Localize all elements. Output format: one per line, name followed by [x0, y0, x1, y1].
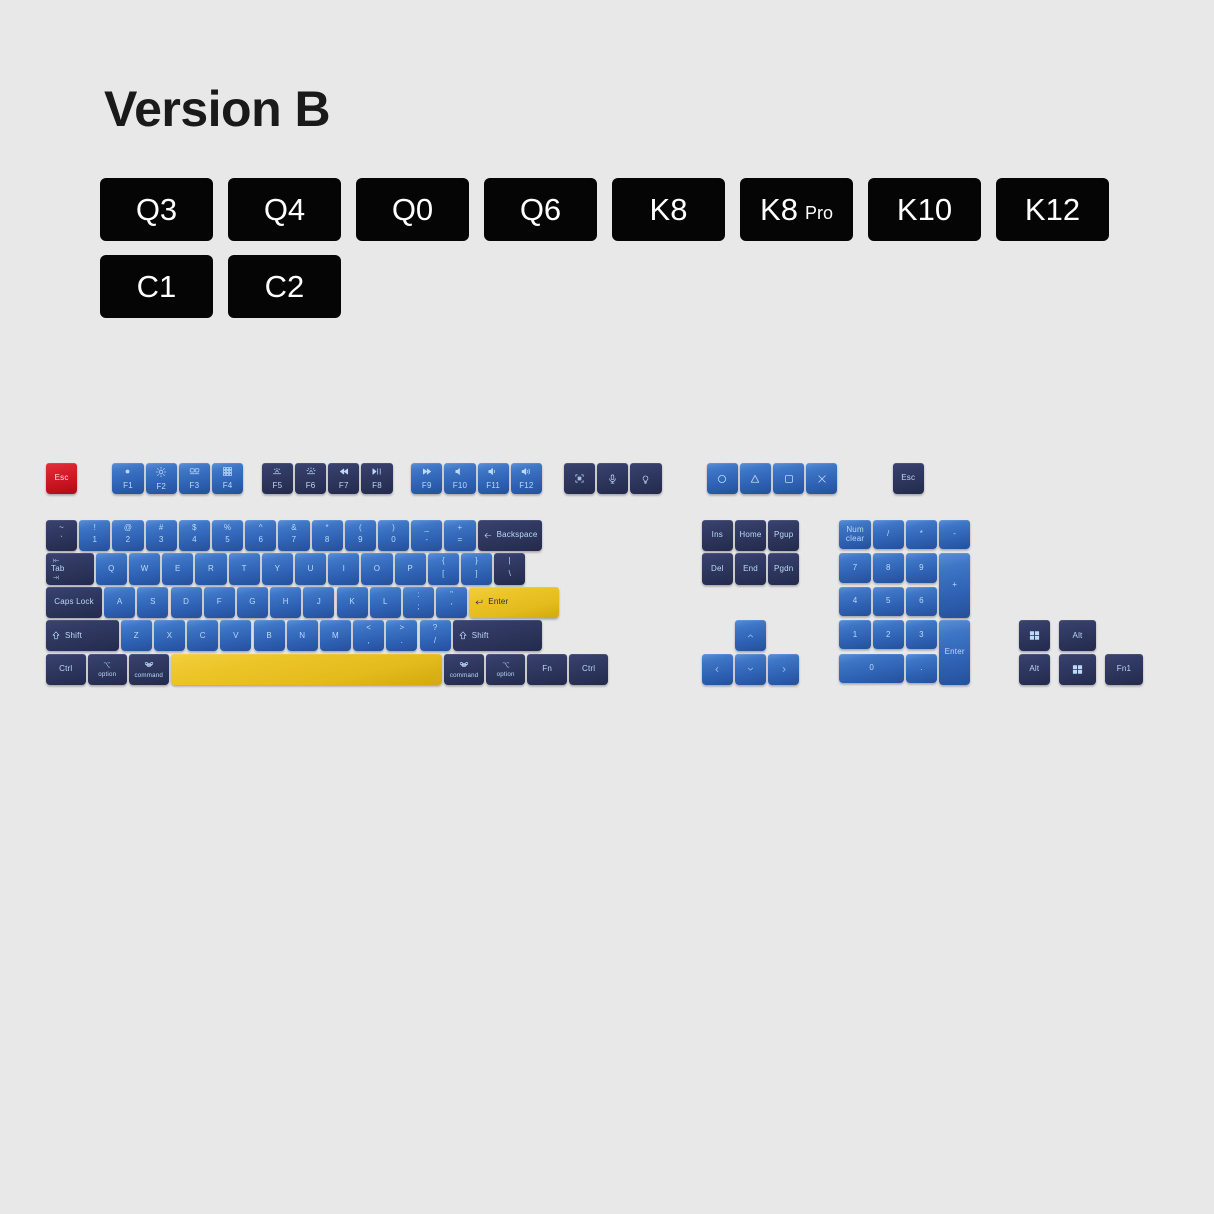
- key-num-period[interactable]: .: [906, 654, 937, 683]
- key-o[interactable]: O: [361, 553, 392, 584]
- keycap-legend-lower: -: [425, 536, 428, 544]
- key-s[interactable]: S: [137, 587, 168, 618]
- windows-icon: [1029, 630, 1040, 641]
- keycap-legend: D: [183, 598, 189, 606]
- keycap-legend: F4: [223, 482, 233, 490]
- triangle-icon: [749, 473, 761, 485]
- keycap-face: -: [939, 520, 970, 549]
- key-quote[interactable]: "': [436, 587, 467, 618]
- key-a[interactable]: A: [104, 587, 135, 618]
- model-chip-label: C2: [265, 271, 305, 302]
- key-n[interactable]: N: [287, 620, 318, 651]
- key-k[interactable]: K: [337, 587, 368, 618]
- keycap-legend: S: [150, 598, 156, 606]
- keycap-face: 2: [873, 620, 904, 649]
- keycap-legend-lower: 2: [126, 536, 131, 544]
- keycap-legend: Del: [711, 565, 724, 573]
- keycap-face: O: [361, 553, 392, 584]
- keycap-face: [702, 654, 733, 685]
- keycap-legend-lower: [: [442, 570, 444, 578]
- keycap-legend-upper: &: [291, 524, 297, 532]
- key-3[interactable]: #3: [146, 520, 177, 551]
- keycap-legend: command: [450, 672, 479, 679]
- key-pgdn[interactable]: Pgdn: [768, 553, 799, 584]
- key-option-right[interactable]: option: [486, 654, 526, 685]
- keycap-face: Caps Lock: [46, 587, 102, 618]
- keycap-face: >.: [386, 620, 417, 651]
- model-chip-k8-pro[interactable]: K8Pro: [740, 178, 853, 241]
- keycap-face: [735, 620, 766, 651]
- model-chip-k12[interactable]: K12: [996, 178, 1109, 241]
- keycap-face: )0: [378, 520, 409, 551]
- keycap-legend-lower: 6: [258, 536, 263, 544]
- keycap-face: [1019, 620, 1050, 651]
- keycap-face: F5: [262, 463, 293, 494]
- keycap-legend: U: [308, 565, 314, 573]
- key-num-6[interactable]: 6: [906, 587, 937, 616]
- keycap-legend: Shift: [65, 632, 82, 640]
- keycap-face: F: [204, 587, 235, 618]
- keycap-face: ^6: [245, 520, 276, 551]
- key-tilde[interactable]: ~`: [46, 520, 77, 551]
- key-alt-bottom[interactable]: Alt: [1019, 654, 1050, 685]
- keycap-face: F9: [411, 463, 442, 494]
- keycap-legend: W: [141, 565, 149, 573]
- keycap-legend-lower: 5: [225, 536, 230, 544]
- keycap-face: Z: [121, 620, 152, 651]
- keycap-legend: F3: [190, 482, 200, 490]
- keycap-face: Alt: [1059, 620, 1097, 651]
- keycap-face: D: [171, 587, 202, 618]
- key-u[interactable]: U: [295, 553, 326, 584]
- square-icon: [783, 473, 795, 485]
- keycap-legend: O: [374, 565, 380, 573]
- key-ctrl-right[interactable]: Ctrl: [569, 654, 609, 685]
- model-chip-q4[interactable]: Q4: [228, 178, 341, 241]
- key-tab[interactable]: Tab: [46, 553, 94, 584]
- keycap-face: N: [287, 620, 318, 651]
- key-0[interactable]: )0: [378, 520, 409, 551]
- key-j[interactable]: J: [303, 587, 334, 618]
- key-arrow-down[interactable]: [735, 654, 766, 685]
- key-num-multiply[interactable]: *: [906, 520, 937, 549]
- keycap-face: C: [187, 620, 218, 651]
- key-command-left[interactable]: command: [129, 654, 169, 685]
- key-num-minus[interactable]: -: [939, 520, 970, 549]
- model-chip-label: K8: [760, 194, 798, 225]
- keycap-face: /: [873, 520, 904, 549]
- model-chip-label: Q0: [392, 194, 433, 225]
- key-square[interactable]: [773, 463, 804, 494]
- key-esc[interactable]: Esc: [46, 463, 77, 494]
- key-i[interactable]: I: [328, 553, 359, 584]
- key-g[interactable]: G: [237, 587, 268, 618]
- key-num-plus[interactable]: +: [939, 553, 970, 618]
- keycap-legend: F8: [372, 482, 382, 490]
- key-y[interactable]: Y: [262, 553, 293, 584]
- key-win-bottom[interactable]: [1059, 654, 1097, 685]
- keycap-face: R: [195, 553, 226, 584]
- keycap-legend-upper: !: [94, 524, 96, 532]
- key-num-divide[interactable]: /: [873, 520, 904, 549]
- key-f12[interactable]: F12: [511, 463, 542, 494]
- keycap-face: option: [88, 654, 128, 685]
- keycap-legend: 6: [919, 597, 924, 605]
- keycap-legend: F12: [519, 482, 533, 490]
- key-mic[interactable]: [597, 463, 628, 494]
- key-fn1[interactable]: Fn1: [1105, 654, 1143, 685]
- keycap-face: [171, 654, 443, 685]
- key-ins[interactable]: Ins: [702, 520, 733, 551]
- keycap-face: command: [444, 654, 484, 685]
- keycap-face: "': [436, 587, 467, 618]
- keycap-legend: Alt: [1073, 632, 1083, 640]
- keycap-face: 3: [906, 620, 937, 649]
- key-backslash[interactable]: |\: [494, 553, 525, 584]
- key-backspace[interactable]: Backspace: [478, 520, 542, 551]
- key-num-enter[interactable]: Enter: [939, 620, 970, 685]
- model-chip-row: Q3Q4Q0Q6K8K8ProK10K12: [100, 178, 1109, 241]
- key-minus[interactable]: _-: [411, 520, 442, 551]
- backlight-down-icon: [271, 466, 283, 477]
- key-pgup[interactable]: Pgup: [768, 520, 799, 551]
- keycap-legend: G: [249, 598, 255, 606]
- keycap-legend-lower: =: [458, 536, 463, 544]
- key-q[interactable]: Q: [96, 553, 127, 584]
- launchpad-grid-icon: [222, 466, 233, 477]
- fast-forward-icon: [421, 466, 433, 477]
- key-8[interactable]: *8: [312, 520, 343, 551]
- key-r[interactable]: R: [195, 553, 226, 584]
- model-chip-k10[interactable]: K10: [868, 178, 981, 241]
- key-shift-right[interactable]: Shift: [453, 620, 542, 651]
- keycap-face: [768, 654, 799, 685]
- key-p[interactable]: P: [395, 553, 426, 584]
- keycap-face: F6: [295, 463, 326, 494]
- keycap-legend: F9: [422, 482, 432, 490]
- keycap-face: Q: [96, 553, 127, 584]
- key-e[interactable]: E: [162, 553, 193, 584]
- key-l[interactable]: L: [370, 587, 401, 618]
- keycap-face: Esc: [893, 463, 924, 494]
- keycap-legend-lower: 7: [292, 536, 297, 544]
- key-bracket-left[interactable]: {[: [428, 553, 459, 584]
- key-6[interactable]: ^6: [245, 520, 276, 551]
- key-slash[interactable]: ?/: [420, 620, 451, 651]
- keycap-legend: Esc: [55, 474, 69, 482]
- keycap-legend-row: Shift: [458, 630, 489, 641]
- keycap-legend: 3: [919, 631, 924, 639]
- key-m[interactable]: M: [320, 620, 351, 651]
- keycap-legend-upper: {: [442, 557, 445, 565]
- keycap-legend: F2: [156, 483, 166, 491]
- key-2[interactable]: @2: [112, 520, 143, 551]
- keycap-legend: Home: [739, 531, 761, 539]
- mission-control-icon: [188, 466, 201, 477]
- keycap-legend-lower: /: [434, 637, 436, 645]
- key-num-1[interactable]: 1: [839, 620, 870, 649]
- key-1[interactable]: !1: [79, 520, 110, 551]
- keycap-face: A: [104, 587, 135, 618]
- keycap-face: H: [270, 587, 301, 618]
- keycap-face: F3: [179, 463, 210, 494]
- brightness-dot-icon: [122, 466, 133, 477]
- keycap-face: K: [337, 587, 368, 618]
- key-f2[interactable]: F2: [146, 463, 177, 494]
- keycap-legend-upper: <: [366, 624, 371, 632]
- keycap-legend: End: [743, 565, 758, 573]
- keycap-face: F11: [478, 463, 509, 494]
- key-alt-top[interactable]: Alt: [1059, 620, 1097, 651]
- backlight-up-icon: [305, 466, 317, 477]
- key-f8[interactable]: F8: [361, 463, 392, 494]
- keycap-legend: option: [98, 671, 116, 678]
- keycap-legend-upper: (: [359, 524, 362, 532]
- keycap-legend: *: [920, 530, 923, 538]
- key-circle[interactable]: [707, 463, 738, 494]
- keycap-legend: +: [952, 581, 957, 589]
- keycap-legend-row: Enter: [474, 598, 508, 607]
- key-h[interactable]: H: [270, 587, 301, 618]
- key-num-9[interactable]: 9: [906, 553, 937, 582]
- keycap-legend: L: [383, 598, 388, 606]
- key-end[interactable]: End: [735, 553, 766, 584]
- keycap-face: Shift: [453, 620, 542, 651]
- page-title: Version B: [104, 84, 330, 134]
- key-x[interactable]: X: [154, 620, 185, 651]
- key-5[interactable]: %5: [212, 520, 243, 551]
- key-f10[interactable]: F10: [444, 463, 475, 494]
- keycap-face: F12: [511, 463, 542, 494]
- key-z[interactable]: Z: [121, 620, 152, 651]
- keycap-face: Shift: [46, 620, 119, 651]
- keycap-face: *: [906, 520, 937, 549]
- key-cross[interactable]: [806, 463, 837, 494]
- key-num-3[interactable]: 3: [906, 620, 937, 649]
- keycap-face: 5: [873, 587, 904, 616]
- keycap-legend: 1: [853, 631, 858, 639]
- keycap-legend-upper: +: [458, 524, 463, 532]
- keycap-legend: Q: [108, 565, 114, 573]
- model-chip-q6[interactable]: Q6: [484, 178, 597, 241]
- key-period[interactable]: >.: [386, 620, 417, 651]
- keycap-face: ~`: [46, 520, 77, 551]
- model-chip-row: C1C2: [100, 255, 1109, 318]
- keycap-face: T: [229, 553, 260, 584]
- key-equal[interactable]: +=: [444, 520, 475, 551]
- key-f7[interactable]: F7: [328, 463, 359, 494]
- keycap-legend: Y: [275, 565, 281, 573]
- keycap-legend: Enter: [488, 598, 508, 606]
- keycap-face: [630, 463, 661, 494]
- keycap-legend: F: [217, 598, 222, 606]
- screenshot-icon: [574, 473, 585, 484]
- keycap-legend: option: [497, 671, 515, 678]
- keycap-legend: F1: [123, 482, 133, 490]
- key-d[interactable]: D: [171, 587, 202, 618]
- key-bracket-right[interactable]: }]: [461, 553, 492, 584]
- keycap-face: Pgdn: [768, 553, 799, 584]
- option-symbol-icon: [501, 661, 511, 669]
- key-f3[interactable]: F3: [179, 463, 210, 494]
- keycap-legend: Pgup: [774, 531, 793, 539]
- key-num-7[interactable]: 7: [839, 553, 870, 582]
- keycap-face: *8: [312, 520, 343, 551]
- keycap-face: (9: [345, 520, 376, 551]
- windows-icon: [1072, 664, 1083, 675]
- keycap-legend-lower: ': [451, 603, 453, 611]
- key-win-top[interactable]: [1019, 620, 1050, 651]
- key-4[interactable]: $4: [179, 520, 210, 551]
- enter-arrow-icon: [474, 598, 484, 607]
- keycap-legend: T: [242, 565, 247, 573]
- key-f9[interactable]: F9: [411, 463, 442, 494]
- key-num-8[interactable]: 8: [873, 553, 904, 582]
- model-chip-c1[interactable]: C1: [100, 255, 213, 318]
- keycap-legend-lower: 8: [325, 536, 330, 544]
- keycap-legend: Fn1: [1117, 665, 1131, 673]
- key-7[interactable]: &7: [278, 520, 309, 551]
- keycap-legend: M: [332, 632, 339, 640]
- keycap-legend: V: [233, 632, 239, 640]
- key-f[interactable]: F: [204, 587, 235, 618]
- keycap-legend-upper: }: [475, 557, 478, 565]
- key-fn[interactable]: Fn: [527, 654, 567, 685]
- key-enter[interactable]: Enter: [469, 587, 558, 618]
- keycap-face: L: [370, 587, 401, 618]
- key-num-5[interactable]: 5: [873, 587, 904, 616]
- key-w[interactable]: W: [129, 553, 160, 584]
- keycap-face: F10: [444, 463, 475, 494]
- key-semicolon[interactable]: :;: [403, 587, 434, 618]
- keycap-face: &7: [278, 520, 309, 551]
- circle-icon: [716, 473, 728, 485]
- keycap-face: Del: [702, 553, 733, 584]
- keycap-legend-upper: *: [326, 524, 329, 532]
- key-f5[interactable]: F5: [262, 463, 293, 494]
- keycap-legend: /: [887, 530, 889, 538]
- key-esc-alt[interactable]: Esc: [893, 463, 924, 494]
- model-chip-label: K8: [650, 194, 688, 225]
- key-b[interactable]: B: [254, 620, 285, 651]
- shift-arrow-icon: [458, 630, 468, 641]
- keycap-legend: H: [283, 598, 289, 606]
- keycap-legend: 5: [886, 597, 891, 605]
- keycap-face: Ctrl: [46, 654, 86, 685]
- key-9[interactable]: (9: [345, 520, 376, 551]
- model-chip-label: K10: [897, 194, 952, 225]
- keycap-face: 0: [839, 654, 903, 683]
- keycap-face: #3: [146, 520, 177, 551]
- key-num-clear[interactable]: Numclear: [839, 520, 870, 549]
- keycap-face: F8: [361, 463, 392, 494]
- key-num-4[interactable]: 4: [839, 587, 870, 616]
- chevron-up-icon: [745, 632, 756, 640]
- key-f4[interactable]: F4: [212, 463, 243, 494]
- key-arrow-left[interactable]: [702, 654, 733, 685]
- model-chip-q3[interactable]: Q3: [100, 178, 213, 241]
- tab-arrow-right-icon: [51, 574, 61, 581]
- volume-up-icon: [520, 466, 533, 477]
- keycap-legend: B: [266, 632, 272, 640]
- keycap-face: J: [303, 587, 334, 618]
- key-ctrl-left[interactable]: Ctrl: [46, 654, 86, 685]
- key-triangle[interactable]: [740, 463, 771, 494]
- keycap-face: ?/: [420, 620, 451, 651]
- keycap-face: 1: [839, 620, 870, 649]
- model-chip-c2[interactable]: C2: [228, 255, 341, 318]
- key-v[interactable]: V: [220, 620, 251, 651]
- key-lightbulb[interactable]: [630, 463, 661, 494]
- key-f1[interactable]: F1: [112, 463, 143, 494]
- keycap-legend-upper: :: [417, 591, 419, 599]
- keycap-legend: N: [299, 632, 305, 640]
- keycap-legend: A: [117, 598, 123, 606]
- key-command-right[interactable]: command: [444, 654, 484, 685]
- keycap-face: 9: [906, 553, 937, 582]
- key-arrow-up[interactable]: [735, 620, 766, 651]
- key-caps-lock[interactable]: Caps Lock: [46, 587, 102, 618]
- keycap-legend: F6: [306, 482, 316, 490]
- key-t[interactable]: T: [229, 553, 260, 584]
- keycap-face: Pgup: [768, 520, 799, 551]
- model-chip-q0[interactable]: Q0: [356, 178, 469, 241]
- key-screenshot[interactable]: [564, 463, 595, 494]
- keycap-face: {[: [428, 553, 459, 584]
- keycap-face: Numclear: [839, 520, 870, 549]
- play-pause-icon: [371, 466, 383, 477]
- keycap-legend-row: Shift: [51, 630, 82, 641]
- keycap-legend: Esc: [901, 474, 915, 482]
- key-space[interactable]: [171, 654, 443, 685]
- key-arrow-right[interactable]: [768, 654, 799, 685]
- keycap-face: F1: [112, 463, 143, 494]
- keycap-face: $4: [179, 520, 210, 551]
- keycap-face: [597, 463, 628, 494]
- key-del[interactable]: Del: [702, 553, 733, 584]
- keycap-legend: Ctrl: [582, 665, 595, 673]
- key-option-left[interactable]: option: [88, 654, 128, 685]
- keycap-legend-upper: %: [224, 524, 231, 532]
- keycap-legend-lower: 0: [391, 536, 396, 544]
- key-c[interactable]: C: [187, 620, 218, 651]
- key-home[interactable]: Home: [735, 520, 766, 551]
- keycap-legend-lower: ,: [367, 637, 369, 645]
- key-shift-left[interactable]: Shift: [46, 620, 119, 651]
- keycap-face: F4: [212, 463, 243, 494]
- keycap-face: Esc: [46, 463, 77, 494]
- keycap-legend: 9: [919, 564, 924, 572]
- keycap-legend: E: [175, 565, 181, 573]
- keycap-face: Enter: [469, 587, 558, 618]
- key-num-2[interactable]: 2: [873, 620, 904, 649]
- keycap-legend-lower: `: [60, 536, 63, 544]
- rewind-icon: [338, 466, 350, 477]
- keycap-legend-upper: |: [509, 557, 511, 565]
- keycap-legend-second: clear: [846, 535, 864, 543]
- keycap-face: Ins: [702, 520, 733, 551]
- keycap-legend: Caps Lock: [54, 598, 94, 606]
- key-comma[interactable]: <,: [353, 620, 384, 651]
- keycap-legend-upper: $: [192, 524, 197, 532]
- model-chip-label: Q3: [136, 194, 177, 225]
- model-chip-k8[interactable]: K8: [612, 178, 725, 241]
- key-f11[interactable]: F11: [478, 463, 509, 494]
- keycap-face: Home: [735, 520, 766, 551]
- keycap-legend: Alt: [1029, 665, 1039, 673]
- key-num-0[interactable]: 0: [839, 654, 903, 683]
- key-f6[interactable]: F6: [295, 463, 326, 494]
